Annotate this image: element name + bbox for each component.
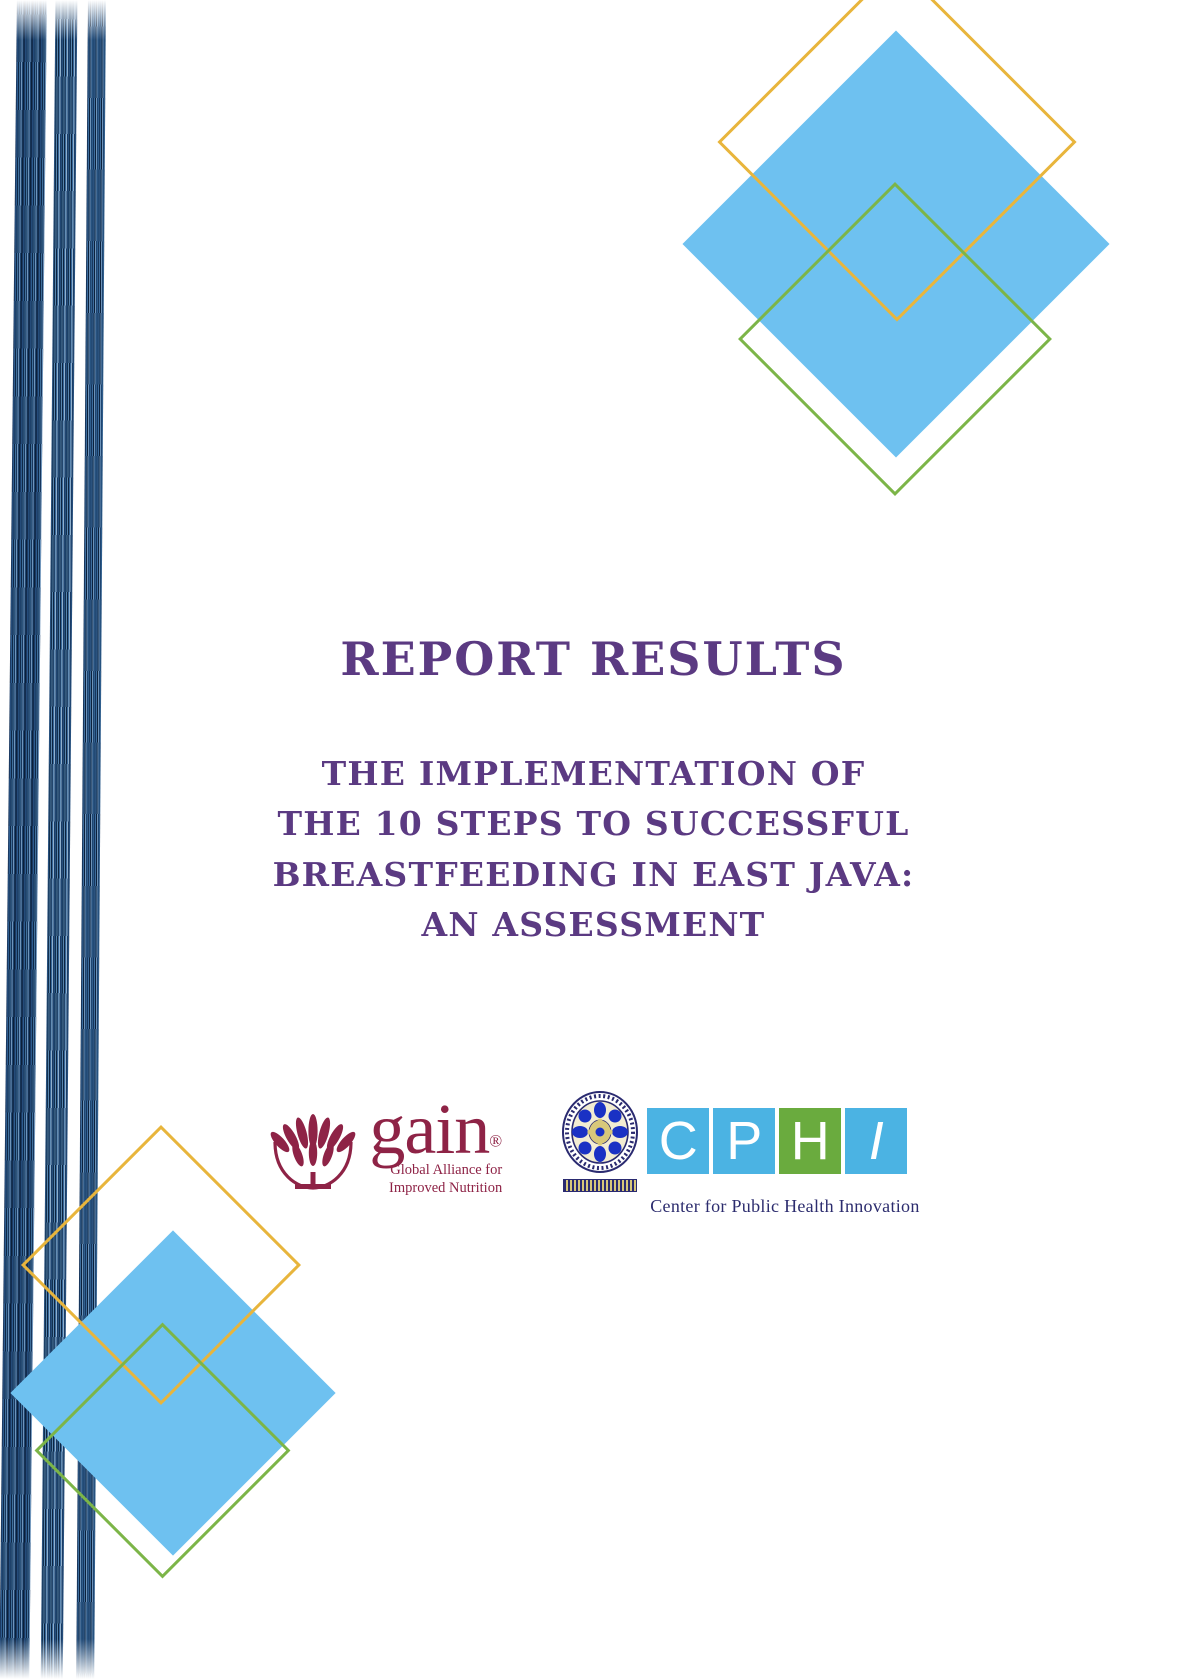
fiber-fade-bottom [0,1639,130,1679]
blue-filled-diamond-icon [10,1230,335,1555]
cphi-mark-row: C P H I [560,1090,907,1192]
page-title: REPORT RESULTS [0,634,1187,685]
subtitle-line-2: THE 10 STEPS TO SUCCESSFUL [0,799,1187,849]
subtitle-line-4: AN ASSESSMENT [0,900,1187,950]
wheat-bowl-icon [267,1098,359,1199]
cphi-letter-tile-i: I [845,1108,907,1174]
report-cover-page: REPORT RESULTS THE IMPLEMENTATION OF THE… [0,0,1187,1679]
title-block: REPORT RESULTS THE IMPLEMENTATION OF THE… [0,634,1187,951]
page-subtitle: THE IMPLEMENTATION OF THE 10 STEPS TO SU… [0,685,1187,951]
cphi-logo: C P H I Center for Public Health Innovat… [560,1090,919,1217]
cphi-caption: Center for Public Health Innovation [650,1196,919,1217]
medallion-base-bar [563,1179,637,1192]
cphi-letter-tile-h: H [779,1108,841,1174]
fiber-fade-top [0,0,130,40]
gain-wordmark-text: gain [369,1089,489,1169]
subtitle-line-3: BREASTFEEDING IN EAST JAVA: [0,850,1187,900]
cphi-letter-tile-c: C [647,1108,709,1174]
blue-filled-diamond-icon [682,30,1109,457]
cphi-letter-tile-p: P [713,1108,775,1174]
logo-row: gain® Global Alliance for Improved Nutri… [0,1090,1187,1217]
registered-mark-icon: ® [489,1132,502,1151]
gain-word-row: gain® [369,1098,502,1161]
cphi-letter-tiles: C P H I [647,1108,907,1174]
gold-outline-diamond-icon [717,0,1076,322]
green-outline-diamond-icon [738,182,1052,496]
green-outline-diamond-icon [35,1323,291,1579]
ornate-medallion-icon [560,1090,640,1192]
gain-wordmark: gain® Global Alliance for Improved Nutri… [369,1098,502,1198]
gain-tagline-line-2: Improved Nutrition [389,1180,502,1198]
subtitle-line-1: THE IMPLEMENTATION OF [0,749,1187,799]
gain-logo: gain® Global Alliance for Improved Nutri… [267,1090,502,1199]
